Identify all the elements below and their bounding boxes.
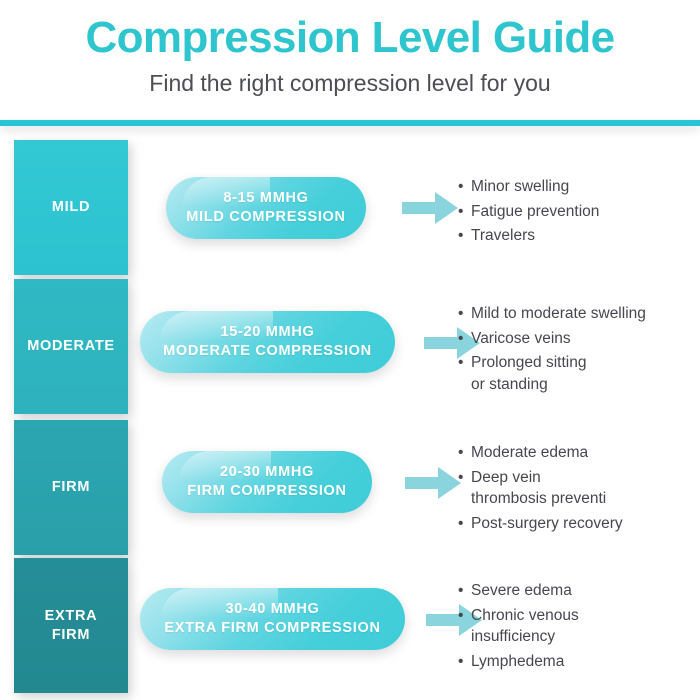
level-row-extra-firm: EXTRA FIRM 30-40 MMHG EXTRA FIRM COMPRES…: [0, 552, 700, 692]
list-item: Varicose veins: [458, 328, 700, 350]
list-item: Moderate edema: [458, 442, 700, 464]
page-title: Compression Level Guide: [0, 12, 700, 64]
indications-list-moderate: Mild to moderate swelling Varicose veins…: [458, 303, 700, 398]
list-item: Post-surgery recovery: [458, 513, 700, 535]
level-block-firm: FIRM: [14, 420, 128, 555]
indications-list-firm: Moderate edema Deep vein thrombosis prev…: [458, 442, 700, 537]
pressure-pill-label: 30-40 MMHG EXTRA FIRM COMPRESSION: [164, 600, 380, 638]
pressure-pill-extra-firm: 30-40 MMHG EXTRA FIRM COMPRESSION: [140, 588, 405, 650]
arrow-right-icon: [405, 466, 461, 500]
level-block-mild: MILD: [14, 140, 128, 275]
level-block-extra-firm: EXTRA FIRM: [14, 558, 128, 693]
pressure-pill-label: 15-20 MMHG MODERATE COMPRESSION: [163, 323, 372, 361]
level-block-label: FIRM: [52, 478, 90, 497]
list-item: Severe edema: [458, 580, 700, 602]
page-subtitle: Find the right compression level for you: [0, 68, 700, 98]
level-row-firm: FIRM 20-30 MMHG FIRM COMPRESSION Moderat…: [0, 414, 700, 554]
compression-level-guide-infographic: Compression Level Guide Find the right c…: [0, 0, 700, 700]
pressure-pill-firm: 20-30 MMHG FIRM COMPRESSION: [162, 451, 372, 513]
indications-list-extra-firm: Severe edema Chronic venous insufficienc…: [458, 580, 700, 675]
list-item: Mild to moderate swelling: [458, 303, 700, 325]
level-block-label: EXTRA FIRM: [45, 607, 98, 645]
level-block-label: MODERATE: [27, 337, 115, 356]
list-item: Fatigue prevention: [458, 201, 700, 223]
list-item: Prolonged sitting or standing: [458, 352, 700, 395]
list-item: Deep vein thrombosis preventi: [458, 467, 700, 510]
pressure-pill-label: 20-30 MMHG FIRM COMPRESSION: [187, 463, 346, 501]
level-row-mild: MILD 8-15 MMHG MILD COMPRESSION Minor sw…: [0, 134, 700, 274]
indications-list-mild: Minor swelling Fatigue prevention Travel…: [458, 176, 700, 250]
list-item: Travelers: [458, 225, 700, 247]
level-block-label: MILD: [52, 198, 90, 217]
level-block-moderate: MODERATE: [14, 279, 128, 414]
list-item: Lymphedema: [458, 651, 700, 673]
level-row-moderate: MODERATE 15-20 MMHG MODERATE COMPRESSION…: [0, 275, 700, 415]
list-item: Minor swelling: [458, 176, 700, 198]
header: Compression Level Guide Find the right c…: [0, 0, 700, 122]
pressure-pill-mild: 8-15 MMHG MILD COMPRESSION: [166, 177, 366, 239]
pressure-pill-moderate: 15-20 MMHG MODERATE COMPRESSION: [140, 311, 395, 373]
header-divider: [0, 120, 700, 126]
arrow-right-icon: [402, 191, 458, 225]
list-item: Chronic venous insufficiency: [458, 605, 700, 648]
pressure-pill-label: 8-15 MMHG MILD COMPRESSION: [186, 189, 345, 227]
